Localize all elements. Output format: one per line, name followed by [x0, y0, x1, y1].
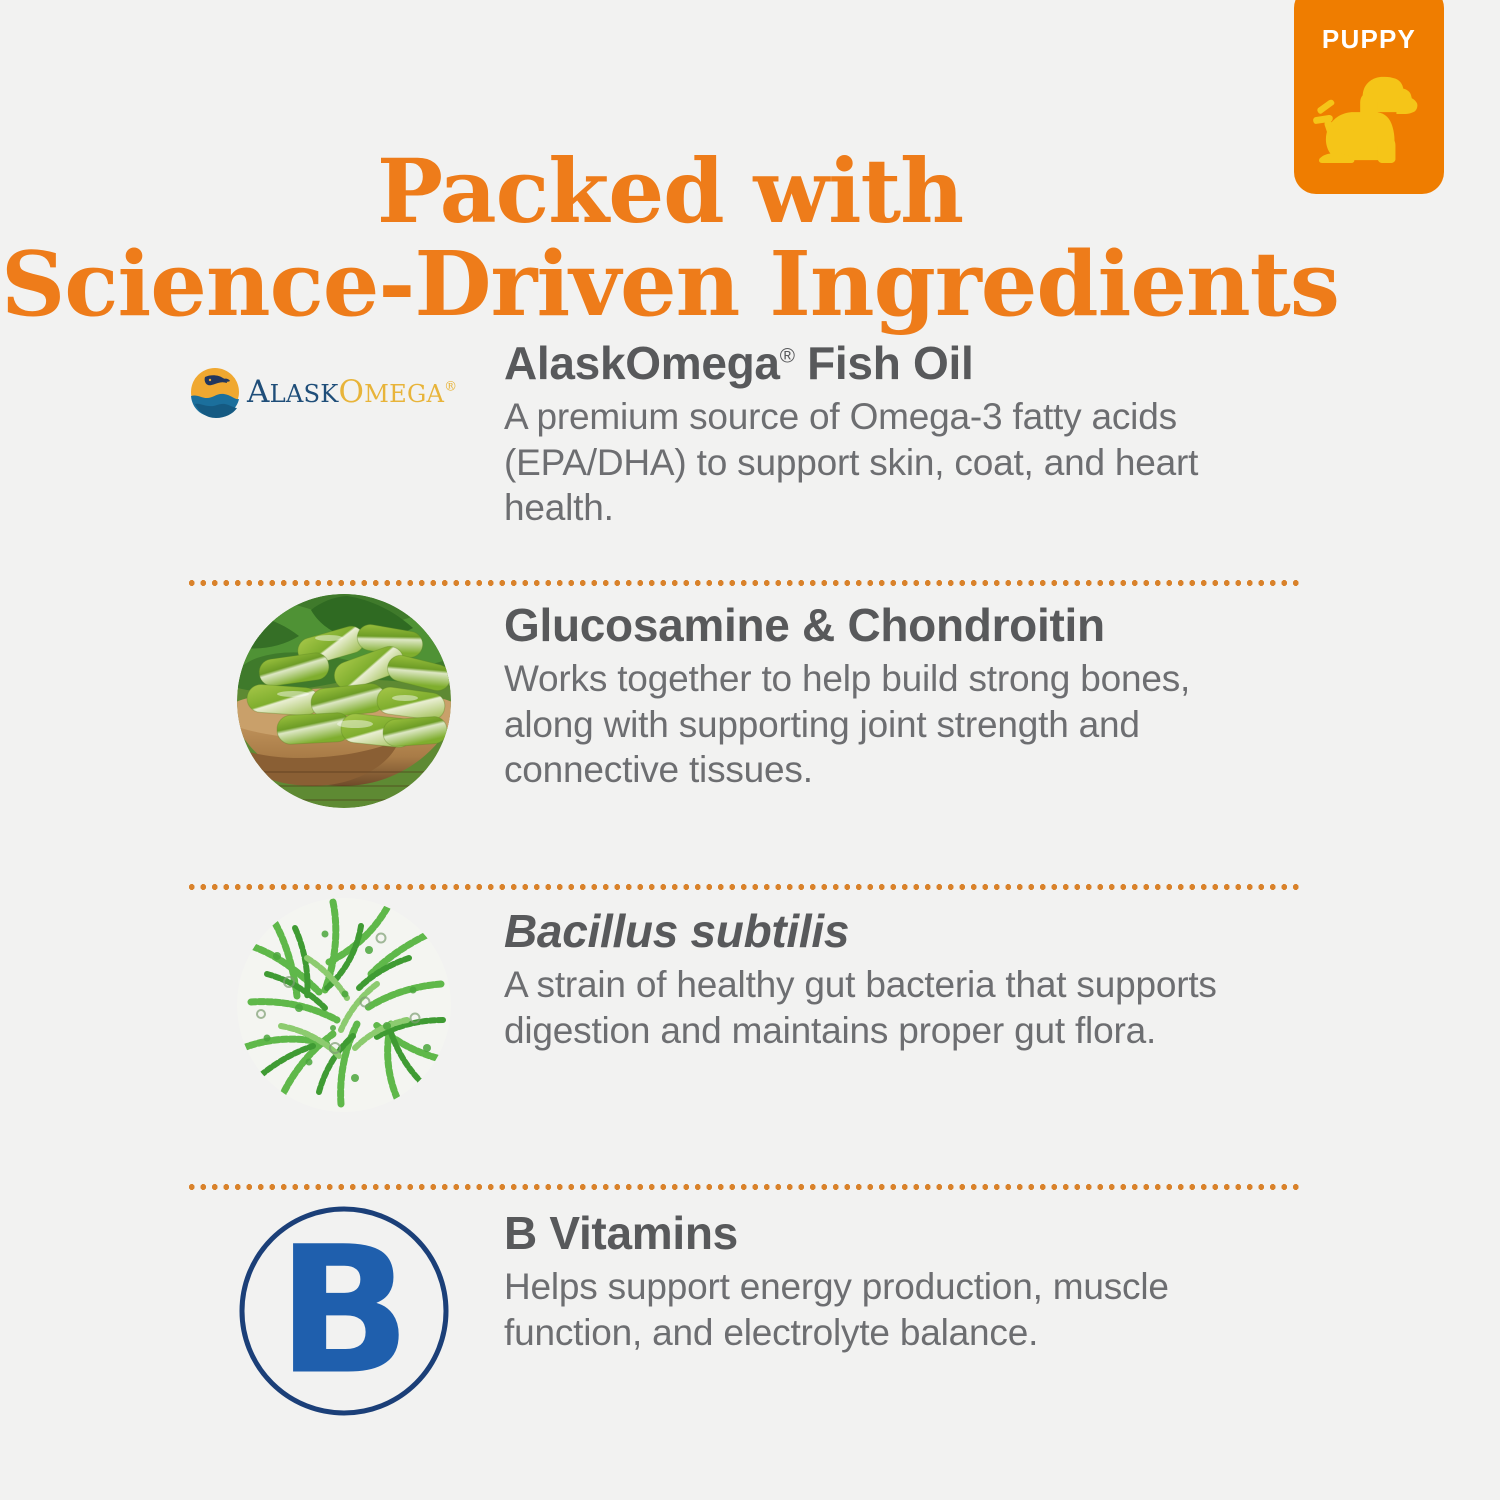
ingredient-description-glucosamine: Works together to help build strong bone… [504, 656, 1270, 793]
alaskomega-omega-cap: O [339, 374, 365, 410]
page-title: Packed with Science-Driven Ingredients [0, 145, 1340, 331]
alaskomega-alask-small: LASK [270, 380, 339, 408]
ingredient-row-b-vitamins: B B Vitamins Helps support energy produc… [0, 1190, 1500, 1450]
headline-line-2: Science-Driven Ingredients [0, 237, 1340, 330]
alaskomega-wordmark: ALASKOMEGA® [247, 374, 457, 410]
green-capsules-photo [237, 594, 451, 808]
ingredient-media: B [184, 1200, 504, 1420]
svg-text:B: B [277, 1209, 411, 1414]
ingredient-description-bacillus: A strain of healthy gut bacteria that su… [504, 962, 1240, 1053]
ingredient-title-main: AlaskOmega [504, 337, 780, 389]
alaskomega-omega-small: MEGA [364, 380, 444, 408]
registered-icon: ® [780, 345, 795, 368]
ingredient-title-b-vitamins: B Vitamins [504, 1210, 1240, 1256]
alaskomega-registered-mark: ® [444, 380, 457, 395]
ingredient-text: Bacillus subtilis A strain of healthy gu… [504, 898, 1500, 1053]
ingredient-media [184, 898, 504, 1112]
puppy-badge: PUPPY [1294, 0, 1444, 194]
puppy-dog-icon [1310, 69, 1428, 165]
ingredient-text: Glucosamine & Chondroitin Works together… [504, 594, 1500, 793]
ingredient-row-alaskomega: ALASKOMEGA® AlaskOmega® Fish Oil A premi… [0, 336, 1500, 580]
ingredient-title-bacillus: Bacillus subtilis [504, 908, 1240, 954]
ingredient-title-glucosamine: Glucosamine & Chondroitin [504, 602, 1270, 648]
alaskomega-alask-cap: A [247, 374, 270, 410]
ingredient-description-b-vitamins: Helps support energy production, muscle … [504, 1264, 1240, 1355]
ingredient-row-bacillus: Bacillus subtilis A strain of healthy gu… [0, 890, 1500, 1184]
ingredient-row-glucosamine: Glucosamine & Chondroitin Works together… [0, 586, 1500, 884]
ingredient-text: B Vitamins Helps support energy producti… [504, 1200, 1500, 1355]
ingredient-list: ALASKOMEGA® AlaskOmega® Fish Oil A premi… [0, 336, 1500, 1450]
ingredient-title-alaskomega: AlaskOmega® Fish Oil [504, 340, 1240, 386]
headline-line-1: Packed with [0, 145, 1340, 237]
puppy-badge-label: PUPPY [1322, 24, 1416, 55]
alaskomega-wave-fish-icon [189, 366, 241, 418]
ingredient-media: ALASKOMEGA® [184, 336, 504, 418]
bacteria-microscopy-photo [237, 898, 451, 1112]
b-vitamin-icon: B [235, 1202, 453, 1420]
ingredient-description-alaskomega: A premium source of Omega-3 fatty acids … [504, 394, 1240, 531]
ingredient-text: AlaskOmega® Fish Oil A premium source of… [504, 336, 1500, 531]
ingredient-title-suffix: Fish Oil [795, 337, 974, 389]
alaskomega-logo: ALASKOMEGA® [189, 366, 499, 418]
ingredient-media [184, 594, 504, 808]
